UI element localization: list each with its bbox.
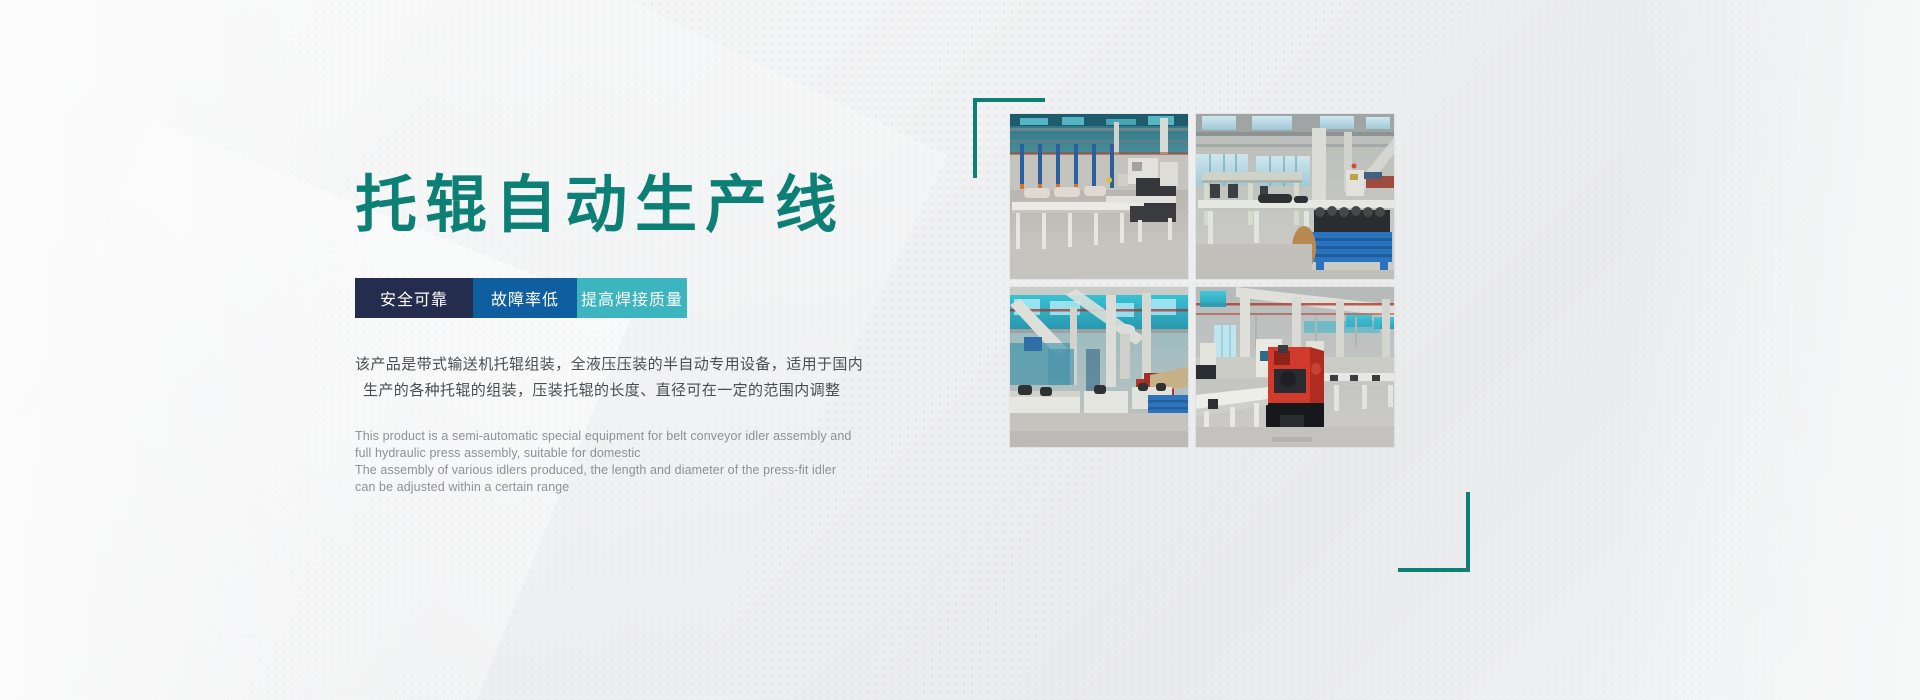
description-cn-line-1: 该产品是带式输送机托辊组装，全液压压装的半自动专用设备，适用于国内 [355,356,863,373]
description-en-line-2: full hydraulic press assembly, suitable … [355,445,885,462]
description-english: This product is a semi-automatic special… [355,428,885,496]
corner-bracket-bottom-right-icon [1398,492,1470,572]
factory-conveyor-photo [1010,114,1188,279]
banner-text-column: 托辊自动生产线 安全可靠 故障率低 提高焊接质量 该产品是带式输送机托辊组装，全… [355,0,955,700]
gallery-photo-1[interactable]: Factory conveyor roller line with blue s… [1010,114,1188,279]
product-banner: 托辊自动生产线 安全可靠 故障率低 提高焊接质量 该产品是带式输送机托辊组装，全… [0,0,1920,700]
photo-grid: Factory conveyor roller line with blue s… [1010,114,1394,447]
description-en-line-1: This product is a semi-automatic special… [355,428,885,445]
badge-improve-weld-quality: 提高焊接质量 [577,278,687,318]
description-cn-line-2: 生产的各种托辊的组装，压装托辊的长度、直径可在一定的范围内调整 [355,378,915,404]
page-title: 托辊自动生产线 [355,175,845,237]
description-en-line-3: The assembly of various idlers produced,… [355,462,885,479]
photo-gallery: Factory conveyor roller line with blue s… [1010,100,1430,540]
badge-low-failure-rate: 故障率低 [473,278,577,318]
description-en-line-4: can be adjusted within a certain range [355,479,885,496]
badge-safe-reliable: 安全可靠 [355,278,473,318]
description-chinese: 该产品是带式输送机托辊组装，全液压压装的半自动专用设备，适用于国内 生产的各种托… [355,352,915,404]
gallery-photo-2[interactable]: Workshop assembly tables with blue crate… [1196,114,1394,279]
production-line-photo [1010,287,1188,447]
gallery-photo-4[interactable]: Red welding press machine on the idler c… [1196,287,1394,447]
feature-badge-group: 安全可靠 故障率低 提高焊接质量 [355,278,687,318]
red-press-machine-photo [1196,287,1394,447]
dot-pattern-background [0,0,1920,700]
workshop-rollers-photo [1196,114,1394,279]
gallery-photo-3[interactable]: Production line interior with teal windo… [1010,287,1188,447]
